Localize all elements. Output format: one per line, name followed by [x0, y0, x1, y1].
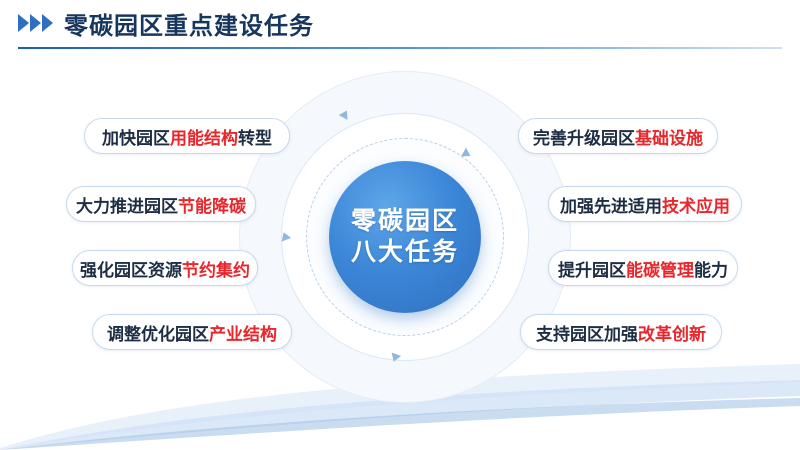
task-pill-left-3[interactable]: 强化园区资源节约集约 — [72, 250, 258, 286]
task-text-highlight: 用能结构 — [170, 124, 238, 149]
task-pill-left-2[interactable]: 大力推进园区节能降碳 — [66, 186, 256, 222]
double-chevron-right-icon — [18, 14, 53, 32]
task-text-highlight: 节能降碳 — [178, 192, 246, 217]
header-divider — [18, 47, 782, 49]
task-text-highlight: 基础设施 — [635, 124, 703, 149]
task-pill-left-1[interactable]: 加快园区用能结构转型 — [84, 118, 290, 154]
task-text-highlight: 产业结构 — [209, 320, 277, 345]
concentric-ring-diagram: 零碳园区 八大任务 — [240, 72, 570, 402]
task-pill-right-4[interactable]: 支持园区加强改革创新 — [520, 314, 722, 350]
task-text-prefix: 强化园区资源 — [80, 256, 182, 281]
task-text-highlight: 改革创新 — [638, 320, 706, 345]
task-text-prefix: 大力推进园区 — [76, 192, 178, 217]
task-text-prefix: 完善升级园区 — [533, 124, 635, 149]
task-text-suffix: 能力 — [694, 256, 728, 281]
slide-header: 零碳园区重点建设任务 — [0, 0, 800, 52]
task-text-prefix: 加快园区 — [102, 124, 170, 149]
task-text-prefix: 提升园区 — [558, 256, 626, 281]
center-title-line2: 八大任务 — [351, 237, 459, 268]
task-text-prefix: 支持园区加强 — [536, 320, 638, 345]
task-text-highlight: 技术应用 — [662, 192, 730, 217]
center-core: 零碳园区 八大任务 — [329, 161, 481, 313]
task-pill-right-1[interactable]: 完善升级园区基础设施 — [518, 118, 718, 154]
task-text-prefix: 加强先进适用 — [560, 192, 662, 217]
page-title: 零碳园区重点建设任务 — [64, 6, 314, 41]
task-text-highlight: 能碳管理 — [626, 256, 694, 281]
task-text-highlight: 节约集约 — [182, 256, 250, 281]
task-pill-left-4[interactable]: 调整优化园区产业结构 — [92, 314, 292, 350]
task-pill-right-2[interactable]: 加强先进适用技术应用 — [548, 186, 742, 222]
task-text-prefix: 调整优化园区 — [107, 320, 209, 345]
task-pill-right-3[interactable]: 提升园区能碳管理能力 — [548, 250, 738, 286]
center-title-line1: 零碳园区 — [351, 206, 459, 237]
task-text-suffix: 转型 — [238, 124, 272, 149]
